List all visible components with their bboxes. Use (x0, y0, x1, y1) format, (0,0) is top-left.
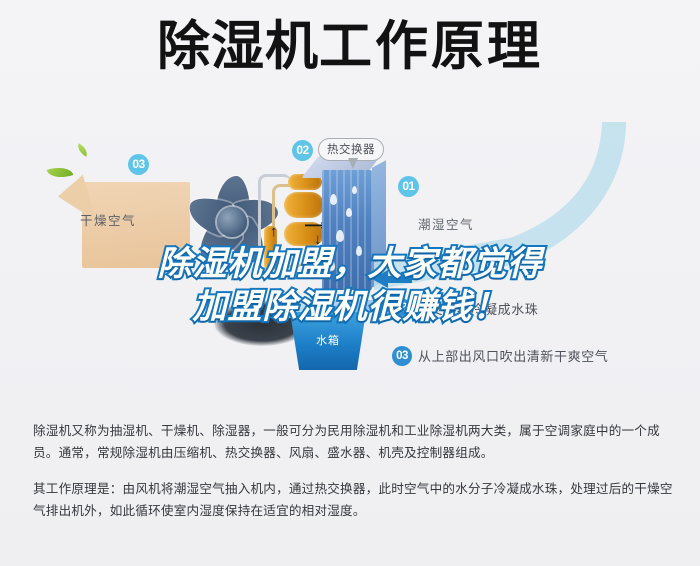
badge-02-top: 02 (292, 140, 313, 161)
flow-arrow-up-icon: ↑ (270, 224, 278, 239)
bottom-caption-03: 从上部出风口吹出清新干爽空气 (418, 346, 608, 365)
page-title-text: 除湿机工作原理 (157, 20, 543, 73)
water-tank-icon: 水箱 (284, 300, 372, 372)
water-droplet-icon (346, 208, 352, 217)
compressor-coils-icon: ⟶ ↑ ↓ (258, 174, 330, 282)
fan-hub (217, 207, 247, 237)
page-title-part-b: 工作原理 (319, 16, 543, 77)
water-droplet-icon (328, 260, 335, 271)
page-title: 除湿机工作原理 (0, 20, 700, 73)
badge-01: 01 (398, 176, 419, 197)
badge-02-bottom: 02 (392, 298, 410, 316)
water-droplet-icon (352, 186, 357, 194)
leaf-icon (75, 143, 90, 156)
moist-air-flow-band (372, 122, 632, 292)
water-tank-label: 水箱 (284, 332, 372, 348)
moist-air-label: 潮湿空气 (418, 214, 474, 233)
page-root: 除湿机工作原理 03 干燥空气 (0, 0, 700, 566)
body-copy: 除湿机又称为抽湿机、干燥机、除湿器，一般可分为民用除湿机和工业除湿机两大类，属于… (33, 420, 673, 522)
page-title-part-a: 除湿机 (157, 16, 319, 77)
badge-03-bottom: 03 (392, 346, 412, 366)
body-paragraph-2: 其工作原理是：由风机将潮湿空气抽入机内，通过热交换器，此时空气中的水分子冷凝成水… (33, 478, 673, 522)
working-principle-diagram: 03 干燥空气 ⟶ ↑ ↓ (0, 118, 700, 386)
moist-air-curve-icon (372, 122, 632, 292)
body-paragraph-1: 除湿机又称为抽湿机、干燥机、除湿器，一般可分为民用除湿机和工业除湿机两大类，属于… (33, 420, 673, 464)
dry-air-label: 干燥空气 (80, 210, 136, 229)
coil-segment (284, 192, 324, 218)
badge-03-top: 03 (128, 154, 149, 175)
water-droplet-icon (356, 246, 362, 256)
flow-arrow-down-icon: ↓ (314, 232, 322, 247)
intake-arrow-tail (386, 276, 412, 283)
water-droplet-icon (330, 194, 337, 205)
water-droplet-icon (336, 230, 344, 242)
bottom-caption-02: 热交换器冷凝成水珠 (416, 299, 538, 318)
callout-tail-icon (348, 158, 358, 169)
heat-exchanger-fins (322, 170, 372, 290)
